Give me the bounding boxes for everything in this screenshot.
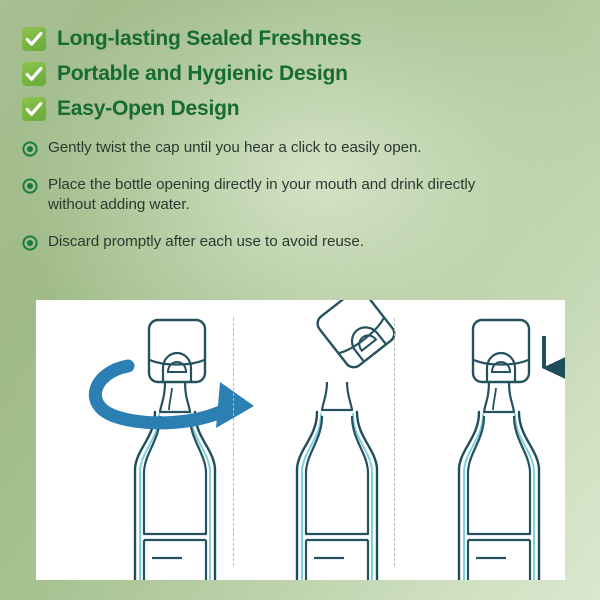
panel-divider: [233, 318, 234, 566]
feature-heading-list: Long-lasting Sealed Freshness Portable a…: [22, 22, 582, 127]
instruction-text: Gently twist the cap until you hear a cl…: [48, 138, 422, 158]
feature-heading-label: Easy-Open Design: [57, 98, 239, 119]
check-square-icon: [22, 27, 46, 51]
illustration-card: [36, 300, 565, 580]
instruction-item: Gently twist the cap until you hear a cl…: [22, 138, 522, 158]
feature-heading-item: Portable and Hygienic Design: [22, 57, 582, 90]
feature-heading-item: Long-lasting Sealed Freshness: [22, 22, 582, 55]
twist-cap-panel: [95, 320, 254, 580]
instruction-item: Discard promptly after each use to avoid…: [22, 232, 522, 252]
feature-heading-label: Long-lasting Sealed Freshness: [57, 28, 362, 49]
radio-bullet-icon: [22, 141, 38, 157]
instruction-text: Discard promptly after each use to avoid…: [48, 232, 364, 252]
remove-cap-panel: [297, 300, 398, 580]
poster-root: Long-lasting Sealed Freshness Portable a…: [0, 0, 600, 600]
check-square-icon: [22, 62, 46, 86]
panel-divider: [394, 318, 395, 566]
radio-bullet-icon: [22, 178, 38, 194]
feature-heading-item: Easy-Open Design: [22, 92, 582, 125]
radio-bullet-icon: [22, 235, 38, 251]
tilted-cap: [314, 300, 398, 371]
illustration-svg: [36, 300, 565, 580]
instruction-item: Place the bottle opening directly in you…: [22, 175, 522, 215]
feature-heading-label: Portable and Hygienic Design: [57, 63, 348, 84]
instruction-text: Place the bottle opening directly in you…: [48, 175, 522, 215]
replace-cap-panel: [459, 320, 544, 580]
instruction-list: Gently twist the cap until you hear a cl…: [22, 138, 522, 269]
check-square-icon: [22, 97, 46, 121]
